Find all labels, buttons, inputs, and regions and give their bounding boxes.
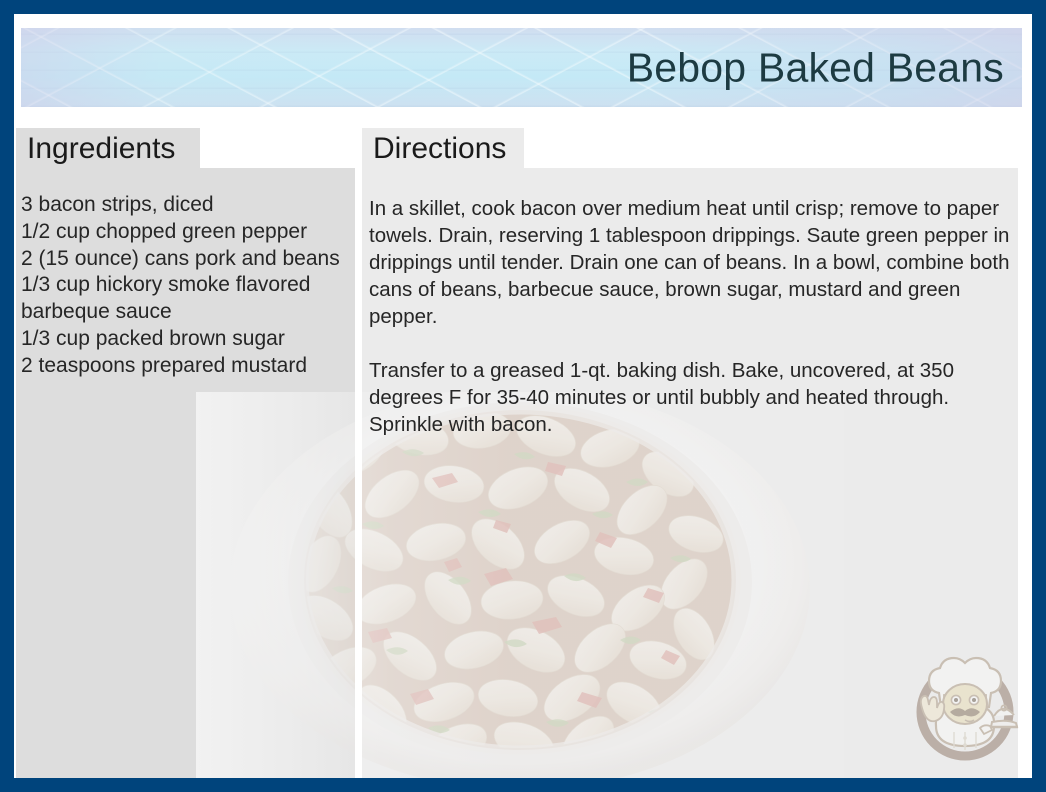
recipe-slide: Bebop Baked Beans xyxy=(0,0,1046,792)
list-item: 2 (15 ounce) cans pork and beans xyxy=(21,246,353,273)
list-item: 1/3 cup packed brown sugar xyxy=(21,326,353,353)
list-item: 1/3 cup hickory smoke flavored xyxy=(21,272,353,299)
directions-header-tab: Directions xyxy=(362,128,524,169)
directions-heading: Directions xyxy=(373,134,506,164)
panel-divider xyxy=(355,168,362,780)
list-item: 1/2 cup chopped green pepper xyxy=(21,219,353,246)
slide-title: Bebop Baked Beans xyxy=(627,47,1004,88)
list-item: 3 bacon strips, diced xyxy=(21,192,353,219)
ingredients-heading: Ingredients xyxy=(27,134,175,164)
directions-paragraph: In a skillet, cook bacon over medium hea… xyxy=(369,195,1014,330)
list-item: barbeque sauce xyxy=(21,299,353,326)
ingredients-list: 3 bacon strips, diced 1/2 cup chopped gr… xyxy=(21,192,353,380)
directions-paragraph: Transfer to a greased 1-qt. baking dish.… xyxy=(369,357,1014,438)
title-banner: Bebop Baked Beans xyxy=(21,28,1022,107)
list-item: 2 teaspoons prepared mustard xyxy=(21,353,353,380)
slide-border-left xyxy=(0,0,14,792)
slide-border-right xyxy=(1032,0,1046,792)
slide-border-bottom xyxy=(0,778,1046,792)
directions-text: In a skillet, cook bacon over medium hea… xyxy=(369,195,1014,438)
ingredients-header-tab: Ingredients xyxy=(16,128,200,169)
slide-border-top xyxy=(0,0,1046,14)
